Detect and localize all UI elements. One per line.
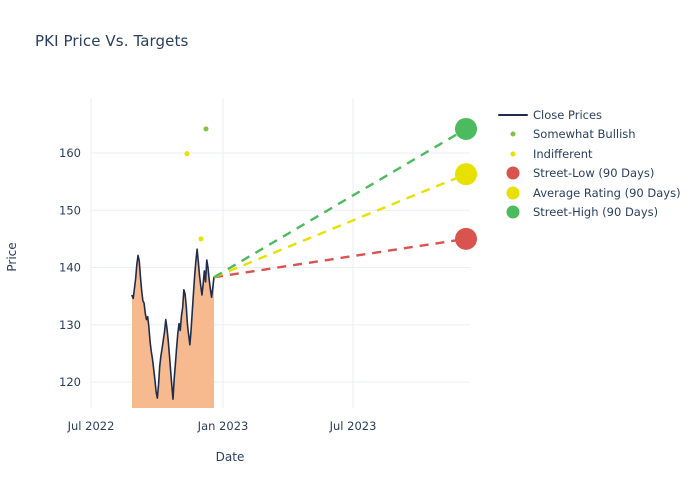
x-tick-label: Jan 2023	[197, 419, 249, 433]
target-trend-line	[214, 174, 466, 277]
legend-item[interactable]: Average Rating (90 Days)	[497, 183, 697, 203]
plot-area: 120130140150160 Jul 2022Jan 2023Jul 2023	[0, 0, 700, 500]
legend-dot-icon	[497, 203, 529, 222]
legend-dot-icon	[497, 144, 529, 163]
rating-marker[interactable]	[204, 126, 209, 131]
rating-marker[interactable]	[185, 151, 190, 156]
x-axis-title: Date	[0, 450, 460, 464]
legend-dot-glyph	[507, 186, 520, 199]
x-tick-label: Jul 2022	[67, 419, 115, 433]
legend-dot-glyph	[511, 132, 516, 137]
x-tick-label: Jul 2023	[329, 419, 377, 433]
legend-line-icon	[497, 105, 529, 124]
y-tick-label: 150	[59, 203, 81, 217]
target-marker[interactable]	[455, 228, 477, 250]
target-marker[interactable]	[455, 163, 477, 185]
legend-item-label: Street-High (90 Days)	[529, 205, 658, 219]
target-marker[interactable]	[455, 118, 477, 140]
legend-dot-icon	[497, 183, 529, 202]
legend-dot-glyph	[507, 206, 520, 219]
target-trend-line	[214, 129, 466, 277]
legend-item-label: Somewhat Bullish	[529, 127, 636, 141]
legend-item[interactable]: Indifferent	[497, 144, 697, 164]
legend-dot-icon	[497, 164, 529, 183]
legend-item[interactable]: Close Prices	[497, 105, 697, 125]
y-tick-label: 130	[59, 318, 81, 332]
rating-marker[interactable]	[199, 236, 204, 241]
y-tick-label: 120	[59, 375, 81, 389]
y-tick-label: 140	[59, 261, 81, 275]
legend-dot-icon	[497, 125, 529, 144]
y-axis-title: Price	[5, 227, 19, 287]
legend-item-label: Street-Low (90 Days)	[529, 166, 654, 180]
legend-item-label: Close Prices	[529, 108, 602, 122]
close-price-area	[132, 249, 214, 408]
legend-item-label: Indifferent	[529, 147, 593, 161]
legend-dot-glyph	[511, 151, 516, 156]
y-tick-labels: 120130140150160	[59, 146, 81, 389]
chart-figure: PKI Price Vs. Targets 120130140150160 Ju…	[0, 0, 700, 500]
target-trend-line	[214, 239, 466, 277]
legend-line-glyph	[498, 114, 528, 116]
legend-item[interactable]: Street-High (90 Days)	[497, 203, 697, 223]
series-layer	[132, 118, 477, 408]
y-tick-label: 160	[59, 146, 81, 160]
legend-item[interactable]: Street-Low (90 Days)	[497, 164, 697, 184]
legend-item-label: Average Rating (90 Days)	[529, 186, 681, 200]
chart-legend: Close PricesSomewhat BullishIndifferentS…	[497, 105, 697, 222]
x-tick-labels: Jul 2022Jan 2023Jul 2023	[67, 419, 377, 433]
legend-dot-glyph	[507, 167, 520, 180]
legend-item[interactable]: Somewhat Bullish	[497, 125, 697, 145]
